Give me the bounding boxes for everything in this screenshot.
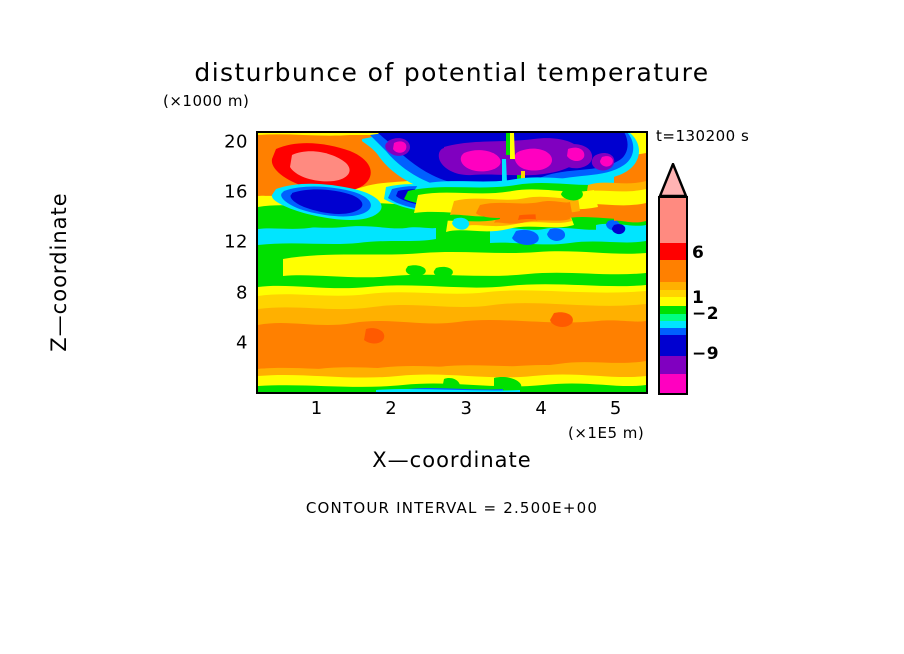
colorbar-tick-label: −2 (692, 304, 719, 324)
x-axis-unit-label: (×1E5 m) (568, 424, 644, 442)
y-tick: 4 (236, 333, 248, 354)
x-tick: 3 (461, 398, 473, 419)
y-axis-ticks: 20 16 12 8 4 (196, 131, 248, 394)
x-tick: 4 (535, 398, 547, 419)
contour-interval-caption: CONTOUR INTERVAL = 2.500E+00 (0, 499, 904, 517)
y-tick: 8 (236, 282, 248, 303)
y-axis-title: Z—coordinate (47, 172, 71, 372)
x-tick: 2 (385, 398, 397, 419)
contour-field (258, 133, 646, 392)
y-tick: 20 (224, 132, 248, 153)
colorbar-segment (658, 335, 688, 358)
colorbar: 61−2−9 (658, 163, 688, 395)
z-axis-unit-label: (×1000 m) (163, 92, 249, 110)
colorbar-segment (658, 260, 688, 284)
x-tick: 1 (311, 398, 323, 419)
time-label: t=130200 s (656, 127, 749, 145)
contour-plot-area (256, 131, 648, 394)
contour-bands (258, 133, 646, 392)
y-tick: 16 (224, 181, 248, 202)
colorbar-tick-label: −9 (692, 344, 719, 364)
y-tick: 12 (224, 232, 248, 253)
colorbar-arrow-icon (658, 163, 688, 197)
chart-title: disturbunce of potential temperature (0, 58, 904, 87)
x-tick: 5 (610, 398, 622, 419)
colorbar-segment (658, 356, 688, 377)
colorbar-segment (658, 374, 688, 393)
x-axis-ticks: 1 2 3 4 5 (256, 398, 648, 424)
colorbar-tick-label: 6 (692, 243, 704, 263)
colorbar-segment (658, 198, 688, 245)
x-axis-title: X—coordinate (256, 448, 648, 472)
